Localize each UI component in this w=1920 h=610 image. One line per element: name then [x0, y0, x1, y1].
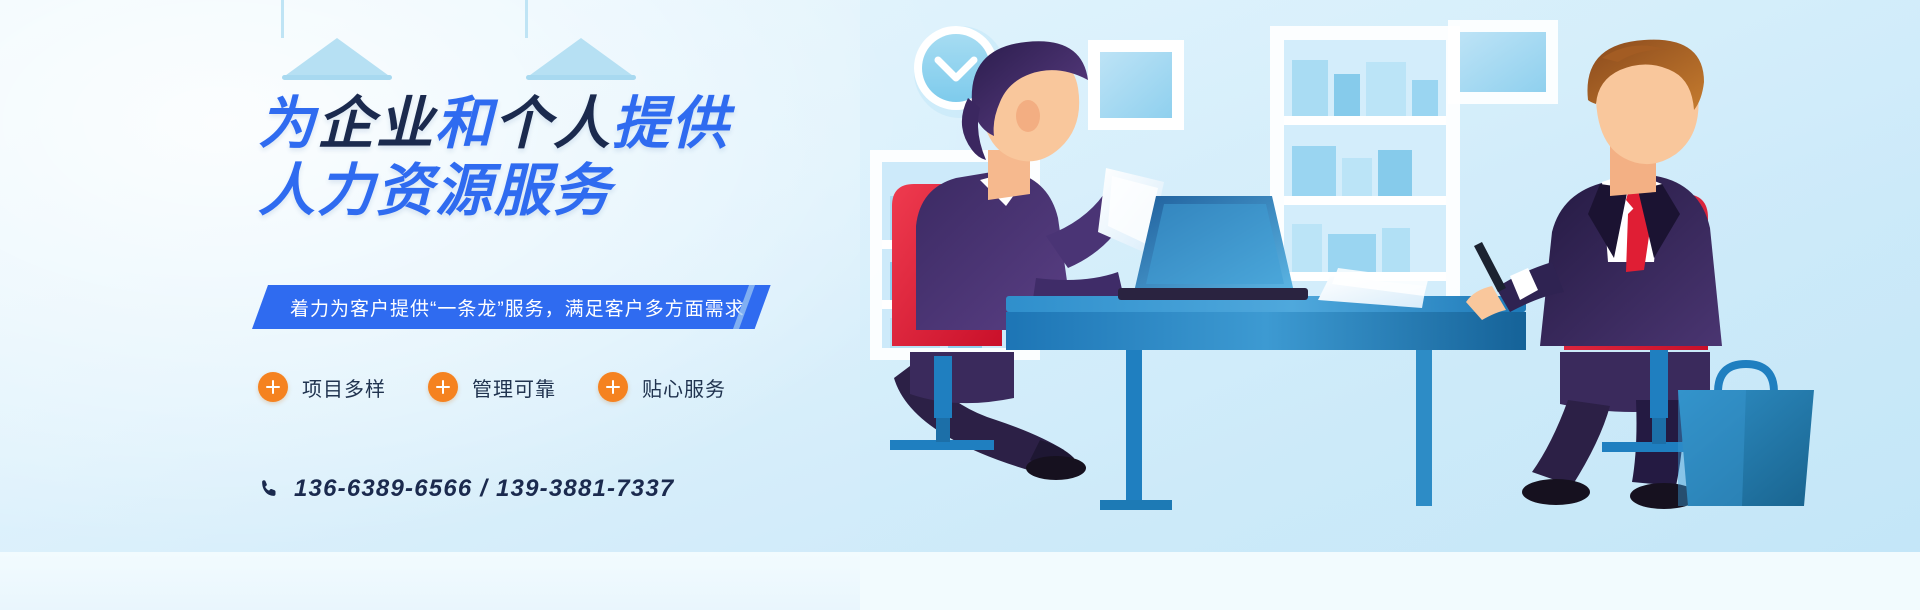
contact-phone[interactable]: 136-6389-6566 / 139-3881-7337	[258, 475, 674, 503]
lamp-shade	[282, 38, 392, 78]
chair-post	[934, 356, 952, 418]
illustration-floor	[860, 552, 1920, 610]
headline-seg-4: 个人	[494, 92, 612, 156]
plus-circle-icon	[598, 372, 628, 402]
lamp-shade	[526, 38, 636, 78]
picture-frame-center	[1088, 40, 1184, 130]
headline-seg-5: 提供	[612, 92, 730, 156]
headline-seg-3: 和	[435, 92, 494, 156]
lamp-cord	[525, 0, 528, 38]
lamp-rim	[526, 75, 636, 80]
plus-circle-icon	[428, 372, 458, 402]
headline-seg-2: 企业	[317, 92, 435, 156]
headline-line-1: 为企业和个人提供	[258, 95, 878, 153]
page-title: 为企业和个人提供 人力资源服务	[258, 95, 878, 220]
headline-seg-1: 为	[258, 92, 317, 156]
desk-leg-right	[1416, 350, 1432, 506]
feature-list: 项目多样 管理可靠 贴心服务	[258, 372, 726, 402]
picture-frame-right	[1448, 20, 1558, 104]
lamp-cord	[281, 0, 284, 38]
feature-label-3: 贴心服务	[642, 373, 726, 402]
subtitle-ribbon: 着力为客户提供“一条龙”服务，满足客户多方面需求	[252, 285, 771, 329]
plus-circle-icon	[258, 372, 288, 402]
laptop-base	[1118, 288, 1308, 300]
feature-item-1[interactable]: 项目多样	[258, 372, 386, 402]
lamp-rim	[282, 75, 392, 80]
desk-leg-left	[1126, 350, 1142, 506]
phone-handset-icon	[258, 478, 280, 500]
hero-banner: 为企业和个人提供 人力资源服务 着力为客户提供“一条龙”服务，满足客户多方面需求…	[0, 0, 1920, 610]
job-interview-illustration	[860, 0, 1920, 610]
desk-front	[1006, 312, 1526, 350]
headline-seg-6: 人力资源服务	[258, 159, 612, 223]
phone-number-text: 136-6389-6566 / 139-3881-7337	[294, 475, 674, 503]
feature-item-2[interactable]: 管理可靠	[428, 372, 556, 402]
feature-label-2: 管理可靠	[472, 373, 556, 402]
feature-item-3[interactable]: 贴心服务	[598, 372, 726, 402]
feature-label-1: 项目多样	[302, 373, 386, 402]
headline-line-2: 人力资源服务	[258, 162, 878, 220]
